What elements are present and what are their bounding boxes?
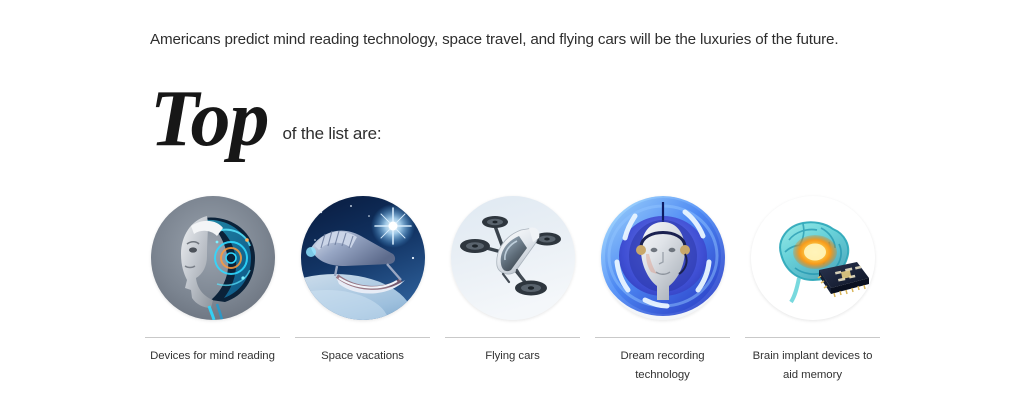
future-luxuries-list: Devices for mind reading [145, 196, 880, 385]
list-item: Space vacations [295, 196, 430, 366]
card-divider [445, 337, 580, 338]
headline-rest: of the list are: [283, 124, 382, 144]
brain-chip-icon [751, 196, 875, 320]
android-head-icon [151, 196, 275, 320]
list-item: Brain implant devices to aid memory [745, 196, 880, 385]
headline-emphasis: Top [150, 84, 269, 154]
flying-car-icon [451, 196, 575, 320]
page-title: Top of the list are: [150, 84, 381, 154]
spaceship-icon [301, 196, 425, 320]
list-item: Dream recording technology [595, 196, 730, 385]
list-item-label: Flying cars [445, 347, 580, 366]
card-divider [295, 337, 430, 338]
list-item-label: Brain implant devices to aid memory [745, 347, 880, 385]
list-item: Flying cars [445, 196, 580, 366]
list-item: Devices for mind reading [145, 196, 280, 366]
card-divider [145, 337, 280, 338]
card-divider [595, 337, 730, 338]
infographic-page: Americans predict mind reading technolog… [0, 0, 1024, 414]
list-item-label: Devices for mind reading [145, 347, 280, 366]
dream-recording-icon [601, 196, 725, 320]
card-divider [745, 337, 880, 338]
list-item-label: Space vacations [295, 347, 430, 366]
intro-paragraph: Americans predict mind reading technolog… [150, 27, 840, 52]
list-item-label: Dream recording technology [595, 347, 730, 385]
